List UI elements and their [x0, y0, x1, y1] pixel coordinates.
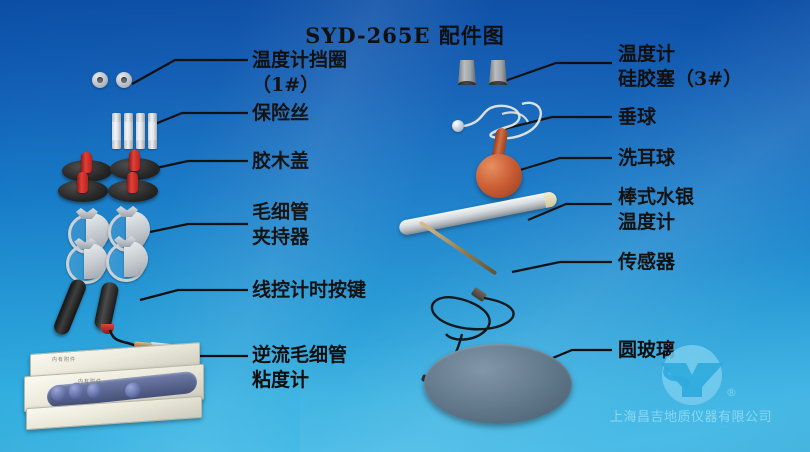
- company-name: 上海昌吉地质仪器有限公司: [580, 406, 802, 425]
- cap-knob: [81, 152, 92, 173]
- stopper-icon: [458, 60, 476, 85]
- round-glass-disc: [424, 344, 572, 424]
- part-fuse-1: [112, 113, 121, 149]
- bulb-body: [476, 154, 522, 198]
- label-wired-timer-button: 线控计时按键: [252, 278, 366, 303]
- part-fuse-2: [124, 113, 133, 149]
- part-fuse-3: [136, 113, 145, 149]
- plumb-ball: [452, 120, 464, 132]
- cap-knob: [129, 150, 140, 171]
- washer-icon: [92, 72, 108, 88]
- part-silicone-stopper-1: [458, 60, 476, 85]
- registered-mark: ®: [726, 386, 737, 399]
- part-thermometer-ring-2: [116, 72, 132, 88]
- stopper-icon: [489, 60, 507, 85]
- label-bakelite-cap: 胶木盖: [252, 149, 309, 174]
- part-suction-bulb: [470, 128, 530, 202]
- part-capillary-holder-4: [104, 236, 148, 278]
- label-fuse: 保险丝: [252, 101, 309, 126]
- label-thermometer-ring: 温度计挡圈 （1#）: [252, 48, 347, 98]
- washer-icon: [116, 72, 132, 88]
- label-round-glass: 圆玻璃: [618, 338, 675, 363]
- fuse-icon: [148, 113, 157, 149]
- part-capillary-holder-3: [64, 238, 108, 280]
- part-round-glass: [424, 344, 574, 426]
- label-plumb-bob: 垂球: [618, 105, 656, 130]
- fuse-icon: [124, 113, 133, 149]
- label-suction-bulb: 洗耳球: [618, 146, 675, 171]
- part-thermometer-ring-1: [92, 72, 108, 88]
- part-reverse-flow-viscometer: 内有附件 内有附件: [12, 348, 222, 448]
- part-bakelite-cap-3: [58, 172, 108, 202]
- label-sensor: 传感器: [618, 250, 675, 275]
- part-fuse-4: [148, 113, 157, 149]
- box-caption-top: 内有附件: [52, 356, 76, 363]
- cap-knob: [127, 172, 138, 193]
- label-reverse-flow-viscometer: 逆流毛细管 粘度计: [252, 343, 347, 393]
- label-capillary-holder: 毛细管 夹持器: [252, 200, 309, 250]
- fuse-icon: [112, 113, 121, 149]
- cap-knob: [77, 172, 88, 193]
- box-caption-bottom: 内有附件: [78, 378, 102, 385]
- fuse-icon: [136, 113, 145, 149]
- part-silicone-stopper-2: [489, 60, 507, 85]
- label-rod-mercury-thermometer: 棒式水银 温度计: [618, 185, 694, 235]
- accessory-diagram-canvas: SYD-265E 配件图: [0, 0, 810, 452]
- part-bakelite-cap-4: [108, 172, 158, 202]
- label-thermometer-silicone-plug: 温度计 硅胶塞（3#）: [618, 42, 742, 92]
